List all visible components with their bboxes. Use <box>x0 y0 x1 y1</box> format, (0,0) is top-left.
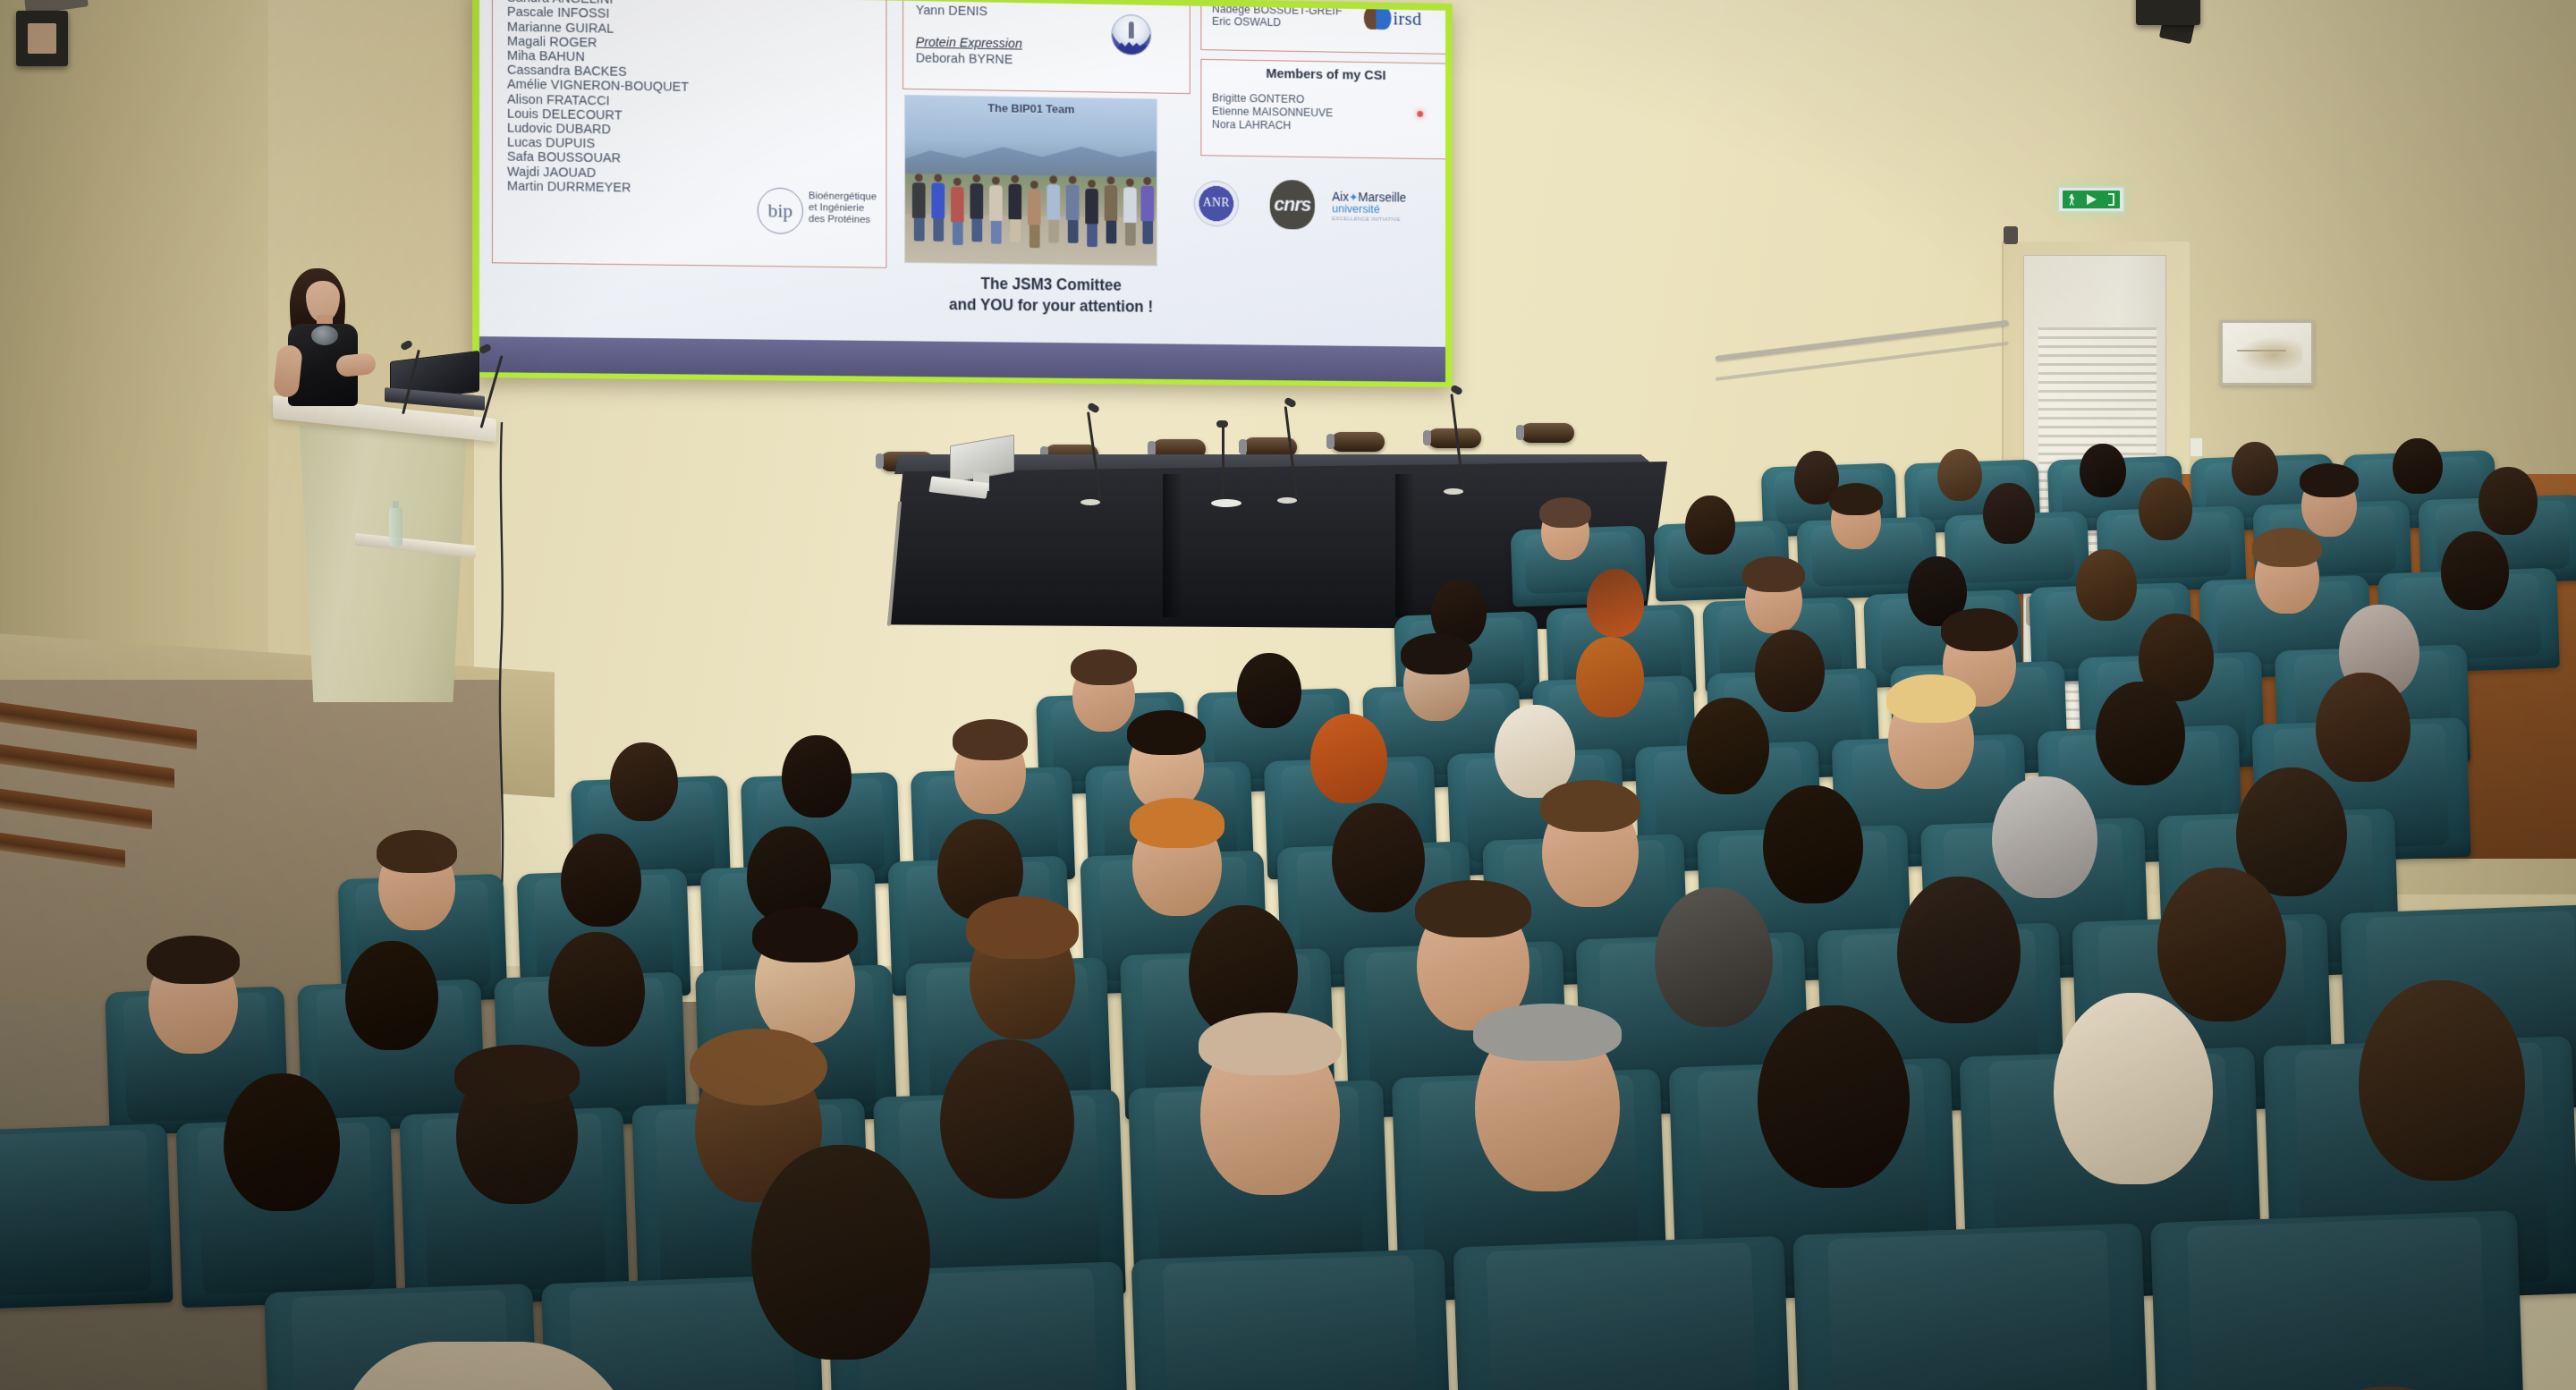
audience-member <box>2254 1386 2522 1390</box>
audience-member <box>1735 1005 1932 1256</box>
team-photo-caption: The BIP01 Team <box>905 100 1157 117</box>
csi-panel: Members of my CSI Brigitte GONTERO Etien… <box>1200 59 1445 159</box>
csi-member-list: Brigitte GONTERO Etienne MAISONNEUVE Nor… <box>1212 92 1333 133</box>
platform-0-person: Yann DENIS <box>916 4 987 19</box>
audience-seating <box>0 483 2576 1390</box>
audience-member <box>2072 444 2134 515</box>
audience-member <box>438 1061 596 1259</box>
closing-thanks: The JSM3 Comittee and YOU for your atten… <box>894 272 1207 318</box>
audience-member <box>2224 442 2286 513</box>
projection-screen: Chantal IOBBI-NIVOL Sandra ANGELINI Pasc… <box>472 0 1453 387</box>
amu-line-3: université <box>1332 202 1406 215</box>
anr-logo-text: ANR <box>1203 197 1230 211</box>
thanks-line-2: and YOU for your attention ! <box>894 293 1207 318</box>
amu-logo-icon: Aix✦Marseille université EXCELLENCE INIT… <box>1332 191 1406 226</box>
audience-member <box>2030 993 2236 1254</box>
bip-logo-text: Bioénergétique et Ingénierie des Protéin… <box>809 191 877 226</box>
bip-line-3: des Protéines <box>809 214 877 226</box>
csi-title: Members of my CSI <box>1201 65 1445 84</box>
audience-member <box>1181 1029 1360 1256</box>
platform-1-person: Deborah BYRNE <box>916 51 1013 67</box>
collaborator-list: Jean-Philippe NOUGAYREDE Nadège BOSSUET-… <box>1212 0 1359 30</box>
seat[interactable] <box>1792 1223 2152 1390</box>
acknowledgement-name-list: Chantal IOBBI-NIVOL Sandra ANGELINI Pasc… <box>507 0 689 196</box>
presentation-slide: Chantal IOBBI-NIVOL Sandra ANGELINI Pasc… <box>479 0 1445 347</box>
seat[interactable] <box>0 1123 173 1309</box>
stage-spotlight-left-icon <box>16 11 68 66</box>
laser-pointer-dot <box>1417 111 1423 117</box>
auditorium-photo: Chantal IOBBI-NIVOL Sandra ANGELINI Pasc… <box>0 0 2576 1390</box>
ack-name-14: Martin DURRMEYER <box>507 179 689 196</box>
bip-logo-icon: bip <box>758 188 803 234</box>
audience-member <box>1873 689 1989 828</box>
lectern-microphone-2 <box>404 338 503 428</box>
team-photo: The BIP01 Team <box>904 95 1157 267</box>
platform-0-heading: Transcriptomic <box>916 0 998 4</box>
irsd-logo-icon: irsd <box>1364 6 1422 30</box>
audience-member <box>2429 531 2521 640</box>
collaborator-2: Eric OSWALD <box>1212 15 1359 30</box>
anr-logo-icon: ANR <box>1194 181 1239 227</box>
audience-member <box>724 1145 957 1390</box>
collaborator-0: Jean-Philippe NOUGAYREDE <box>1212 0 1359 5</box>
framed-wall-picture <box>2220 320 2314 386</box>
platform-1-heading: Protein Expression <box>916 36 1022 52</box>
light-switch-icon[interactable] <box>2190 437 2203 457</box>
cnrs-logo-icon: cnrs <box>1270 180 1315 230</box>
audience-member <box>1821 490 1891 574</box>
panel-microphone-4 <box>1435 386 1470 494</box>
acknowledgement-panel: Chantal IOBBI-NIVOL Sandra ANGELINI Pasc… <box>492 0 886 268</box>
audience-member <box>1453 1018 1641 1256</box>
bip-logo-initials: bip <box>768 199 793 223</box>
amu-subtitle: EXCELLENCE INITIATIVE <box>1332 214 1406 226</box>
seat[interactable] <box>1453 1236 1793 1390</box>
irsd-logo-text: irsd <box>1393 7 1421 30</box>
stair-railing <box>1716 356 2038 419</box>
audience-member <box>206 1073 358 1263</box>
imm-logo-icon <box>1111 14 1151 55</box>
collaborators-panel: Jean-Philippe NOUGAYREDE Nadège BOSSUET-… <box>1200 0 1445 55</box>
audience-member <box>1973 483 2045 569</box>
seat[interactable] <box>1131 1249 1454 1390</box>
audience-member <box>1392 644 1481 755</box>
emergency-exit-icon <box>2057 186 2125 213</box>
smoke-detector-icon <box>2004 226 2018 244</box>
audience-member <box>2243 538 2331 644</box>
cnrs-logo-text: cnrs <box>1274 193 1310 216</box>
platforms-panel: Transcriptomic Yann DENIS Protein Expres… <box>902 0 1191 94</box>
presenter-necklace <box>311 326 338 345</box>
csi-member-2: Nora LAHRACH <box>1212 118 1333 133</box>
bip-line-2: et Ingénierie <box>809 202 877 215</box>
audience-member <box>331 941 453 1091</box>
bip-line-1: Bioénergétique <box>809 191 877 203</box>
seat[interactable] <box>2150 1210 2528 1390</box>
stage-spotlight-right-icon <box>2136 0 2200 25</box>
